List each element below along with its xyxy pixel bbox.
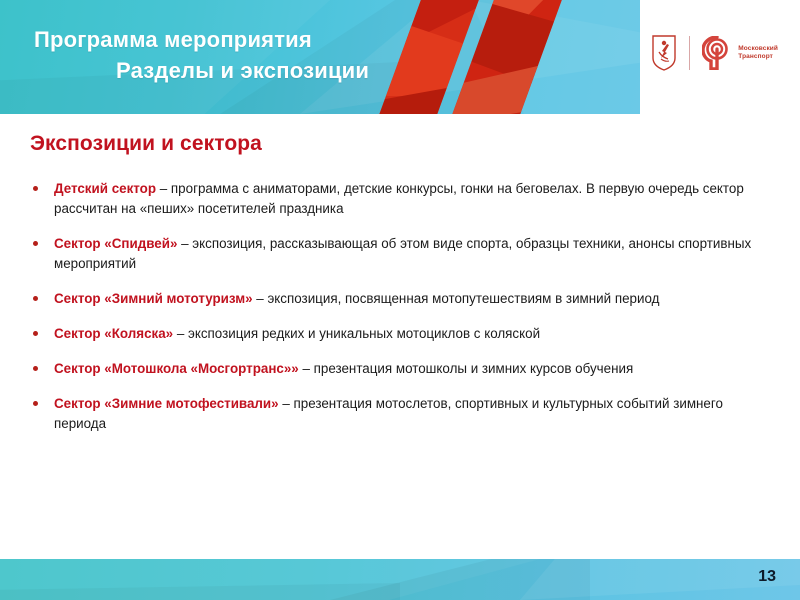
- brand-line-2: Транспорт: [738, 53, 778, 61]
- list-item: Детский сектор – программа с аниматорами…: [28, 179, 776, 219]
- logo-group: Московский Транспорт: [651, 30, 778, 76]
- bullet-lead: Сектор «Коляска»: [54, 326, 173, 341]
- list-item: Сектор «Зимние мотофестивали» – презента…: [28, 394, 776, 434]
- slide-heading: Экспозиции и сектора: [30, 132, 262, 156]
- bullet-lead: Сектор «Зимний мототуризм»: [54, 291, 253, 306]
- list-item: Сектор «Мотошкола «Мосгортранс»» – презе…: [28, 359, 776, 379]
- mostransport-logo: Московский Транспорт: [702, 36, 778, 70]
- bullet-text: – программа с аниматорами, детские конку…: [54, 181, 744, 216]
- bullet-list: Детский сектор – программа с аниматорами…: [28, 179, 776, 449]
- bullet-text: – презентация мотошколы и зимних курсов …: [299, 361, 633, 376]
- bullet-dot-icon: [33, 401, 38, 406]
- bullet-lead: Сектор «Спидвей»: [54, 236, 177, 251]
- page-number: 13: [758, 568, 776, 586]
- bullet-lead: Детский сектор: [54, 181, 156, 196]
- bullet-text: – экспозиция редких и уникальных мотоцик…: [173, 326, 540, 341]
- slide-body: Экспозиции и сектора Детский сектор – пр…: [0, 114, 800, 559]
- list-item: Сектор «Зимний мототуризм» – экспозиция,…: [28, 289, 776, 309]
- bullet-lead: Сектор «Мотошкола «Мосгортранс»»: [54, 361, 299, 376]
- bullet-dot-icon: [33, 296, 38, 301]
- brand-line-1: Московский: [738, 45, 778, 53]
- bullet-lead: Сектор «Зимние мотофестивали»: [54, 396, 279, 411]
- bullet-dot-icon: [33, 241, 38, 246]
- slide-header: Программа мероприятия Разделы и экспозиц…: [0, 0, 800, 114]
- presentation-slide: Программа мероприятия Разделы и экспозиц…: [0, 0, 800, 600]
- mostransport-wordmark: Московский Транспорт: [738, 45, 778, 61]
- list-item: Сектор «Коляска» – экспозиция редких и у…: [28, 324, 776, 344]
- mostransport-spiral-icon: [702, 36, 732, 70]
- bullet-dot-icon: [33, 186, 38, 191]
- bullet-dot-icon: [33, 331, 38, 336]
- header-title-line-2: Разделы и экспозиции: [34, 55, 414, 86]
- header-title-line-1: Программа мероприятия: [34, 27, 312, 52]
- moscow-coat-of-arms-icon: [651, 34, 677, 72]
- slide-footer: 13: [0, 559, 800, 600]
- bullet-text: – экспозиция, посвященная мотопутешестви…: [253, 291, 660, 306]
- logo-divider: [689, 36, 690, 70]
- header-title: Программа мероприятия Разделы и экспозиц…: [34, 24, 414, 86]
- bullet-dot-icon: [33, 366, 38, 371]
- list-item: Сектор «Спидвей» – экспозиция, рассказыв…: [28, 234, 776, 274]
